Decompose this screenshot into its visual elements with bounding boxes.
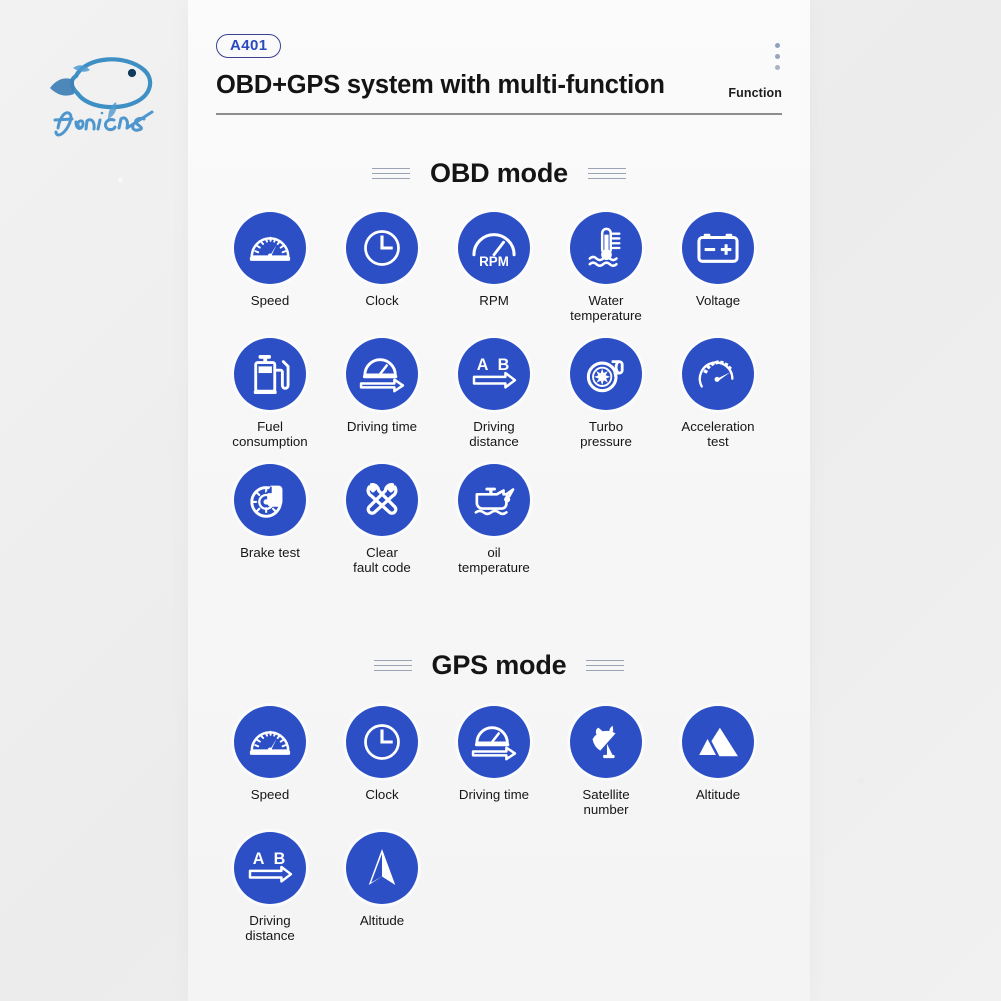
speedometer-icon <box>234 706 306 778</box>
feature-label: Speed <box>251 293 289 308</box>
feature-tile-acceleration-test[interactable]: Acceleration test <box>662 338 774 450</box>
header-divider <box>216 113 782 115</box>
driving-time-icon <box>346 338 418 410</box>
navigation-arrow-icon <box>346 832 418 904</box>
feature-tile-altitude[interactable]: Altitude <box>662 706 774 818</box>
feature-label: Clock <box>365 787 398 802</box>
function-label: Function <box>728 86 782 100</box>
fuel-pump-icon <box>234 338 306 410</box>
heading-decoration-right <box>588 164 626 183</box>
feature-tile-driving-time[interactable]: Driving time <box>326 338 438 450</box>
feature-label: Voltage <box>696 293 740 308</box>
kebab-dot-3 <box>775 65 780 70</box>
feature-tile-driving-time[interactable]: Driving time <box>438 706 550 818</box>
feature-tile-rpm[interactable]: RPM RPM <box>438 212 550 324</box>
feature-tile-turbo-pressure[interactable]: Turbo pressure <box>550 338 662 450</box>
feature-tile-brake-test[interactable]: Brake test <box>214 464 326 576</box>
driving-distance-ab-icon: A B <box>458 338 530 410</box>
section-title-gps: GPS mode <box>432 650 567 681</box>
feature-label: Speed <box>251 787 289 802</box>
feature-tile-fuel-consumption[interactable]: Fuel consumption <box>214 338 326 450</box>
section-heading-gps: GPS mode <box>188 650 810 681</box>
feature-label: oil temperature <box>458 545 530 576</box>
svg-text:A: A <box>253 850 265 868</box>
feature-label: Driving time <box>459 787 529 802</box>
rpm-gauge-icon: RPM <box>458 212 530 284</box>
acceleration-gauge-icon <box>682 338 754 410</box>
feature-label: RPM <box>479 293 509 308</box>
clock-icon <box>346 212 418 284</box>
feature-grid-obd: Speed Clock RPM RPM Water temperature <box>188 212 862 590</box>
speedometer-icon <box>234 212 306 284</box>
feature-label: Clock <box>365 293 398 308</box>
feature-tile-driving-distance[interactable]: A B Driving distance <box>438 338 550 450</box>
kebab-dot-1 <box>775 43 780 48</box>
heading-decoration-right <box>586 656 624 675</box>
mountains-icon <box>682 706 754 778</box>
feature-label: Fuel consumption <box>232 419 307 450</box>
feature-tile-oil-temperature[interactable]: oil temperature <box>438 464 550 576</box>
feature-tile-satellite-number[interactable]: Satellite number <box>550 706 662 818</box>
header: A401 OBD+GPS system with multi-function … <box>216 34 782 115</box>
kebab-dot-2 <box>775 54 780 59</box>
satellite-dish-icon <box>570 706 642 778</box>
feature-tile-voltage[interactable]: Voltage <box>662 212 774 324</box>
feature-label: Clear fault code <box>353 545 411 576</box>
heading-decoration-left <box>374 656 412 675</box>
driving-distance-ab-icon: A B <box>234 832 306 904</box>
svg-text:A: A <box>477 356 489 374</box>
model-badge: A401 <box>216 34 281 58</box>
feature-tile-clock[interactable]: Clock <box>326 706 438 818</box>
fish-logo-icon <box>26 36 178 140</box>
feature-label: Driving distance <box>469 419 519 450</box>
feature-tile-clear-fault-code[interactable]: Clear fault code <box>326 464 438 576</box>
feature-tile-speed[interactable]: Speed <box>214 706 326 818</box>
feature-label: Turbo pressure <box>580 419 632 450</box>
feature-label: Satellite number <box>582 787 629 818</box>
feature-label: Driving distance <box>245 913 295 944</box>
brake-disc-icon <box>234 464 306 536</box>
battery-voltage-icon <box>682 212 754 284</box>
feature-tile-driving-distance[interactable]: A B Driving distance <box>214 832 326 944</box>
turbocharger-icon <box>570 338 642 410</box>
section-title-obd: OBD mode <box>430 158 568 189</box>
feature-grid-gps: Speed Clock Driving time Satellite numbe… <box>188 706 862 958</box>
feature-label: Acceleration test <box>681 419 754 450</box>
water-temperature-icon <box>570 212 642 284</box>
wrench-spanner-icon <box>346 464 418 536</box>
feature-label: Brake test <box>240 545 300 560</box>
feature-tile-clock[interactable]: Clock <box>326 212 438 324</box>
driving-time-icon <box>458 706 530 778</box>
kebab-menu-icon[interactable] <box>775 43 780 76</box>
clock-icon <box>346 706 418 778</box>
brand-logo <box>26 36 178 140</box>
feature-label: Altitude <box>696 787 740 802</box>
svg-text:B: B <box>274 850 286 868</box>
feature-label: Driving time <box>347 419 417 434</box>
feature-label: Water temperature <box>570 293 642 324</box>
svg-text:B: B <box>498 356 510 374</box>
feature-tile-altitude[interactable]: Altitude <box>326 832 438 944</box>
oil-can-icon <box>458 464 530 536</box>
svg-text:RPM: RPM <box>479 254 509 269</box>
feature-label: Altitude <box>360 913 404 928</box>
section-heading-obd: OBD mode <box>188 158 810 189</box>
heading-decoration-left <box>372 164 410 183</box>
feature-tile-water-temperature[interactable]: Water temperature <box>550 212 662 324</box>
page-title: OBD+GPS system with multi-function <box>216 71 782 100</box>
feature-tile-speed[interactable]: Speed <box>214 212 326 324</box>
